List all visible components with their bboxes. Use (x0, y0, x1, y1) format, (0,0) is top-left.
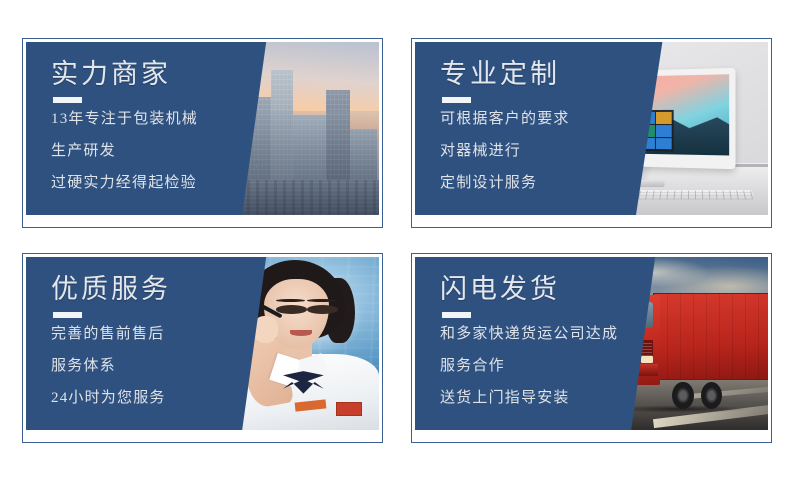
description-line: 13年专注于包装机械 (51, 112, 277, 127)
panel-text-block: 实力商家 13年专注于包装机械 生产研发 过硬实力经得起检验 (51, 60, 277, 191)
description-line: 和多家快递货运公司达成 (440, 327, 666, 342)
eyebrow (307, 299, 336, 302)
title-underline-dash (442, 97, 471, 103)
feature-panel-strong-merchant[interactable]: 实力商家 13年专注于包装机械 生产研发 过硬实力经得起检验 (22, 38, 383, 228)
panel-text-block: 专业定制 可根据客户的要求 对器械进行 定制设计服务 (440, 60, 666, 191)
description-line: 服务合作 (440, 359, 666, 374)
title-underline-dash (442, 312, 471, 318)
feature-panel-professional-customization[interactable]: 专业定制 可根据客户的要求 对器械进行 定制设计服务 (411, 38, 772, 228)
description-line: 过硬实力经得起检验 (51, 176, 277, 191)
panel-description: 完善的售前售后 服务体系 24小时为您服务 (51, 327, 277, 406)
panel-title: 优质服务 (51, 275, 277, 305)
description-line: 可根据客户的要求 (440, 112, 666, 127)
panel-text-block: 闪电发货 和多家快递货运公司达成 服务合作 送货上门指导安装 (440, 275, 666, 406)
feature-panel-grid: 实力商家 13年专注于包装机械 生产研发 过硬实力经得起检验 (0, 0, 790, 487)
cargo-trailer (653, 293, 768, 380)
panel-body: 优质服务 完善的售前售后 服务体系 24小时为您服务 (26, 257, 379, 430)
description-line: 送货上门指导安装 (440, 391, 666, 406)
feature-panel-quality-service[interactable]: 优质服务 完善的售前售后 服务体系 24小时为您服务 (22, 253, 383, 443)
description-line: 定制设计服务 (440, 176, 666, 191)
panel-title: 实力商家 (51, 60, 277, 90)
panel-description: 可根据客户的要求 对器械进行 定制设计服务 (440, 112, 666, 191)
description-line: 完善的售前售后 (51, 327, 277, 342)
panel-description: 13年专注于包装机械 生产研发 过硬实力经得起检验 (51, 112, 277, 191)
mouth (290, 330, 312, 336)
description-line: 服务体系 (51, 359, 277, 374)
panel-description: 和多家快递货运公司达成 服务合作 送货上门指导安装 (440, 327, 666, 406)
wheel (672, 382, 694, 410)
feature-panel-lightning-shipping[interactable]: 闪电发货 和多家快递货运公司达成 服务合作 送货上门指导安装 (411, 253, 772, 443)
keyboard (637, 190, 755, 200)
panel-body: 专业定制 可根据客户的要求 对器械进行 定制设计服务 (415, 42, 768, 215)
description-line: 对器械进行 (440, 144, 666, 159)
panel-title: 专业定制 (440, 60, 666, 90)
name-badge (336, 402, 362, 416)
eyebrow (276, 299, 305, 302)
panel-text-block: 优质服务 完善的售前售后 服务体系 24小时为您服务 (51, 275, 277, 406)
title-underline-dash (53, 312, 82, 318)
description-line: 生产研发 (51, 144, 277, 159)
description-line: 24小时为您服务 (51, 391, 277, 406)
panel-title: 闪电发货 (440, 275, 666, 305)
panel-body: 实力商家 13年专注于包装机械 生产研发 过硬实力经得起检验 (26, 42, 379, 215)
panel-body: 闪电发货 和多家快递货运公司达成 服务合作 送货上门指导安装 (415, 257, 768, 430)
title-underline-dash (53, 97, 82, 103)
